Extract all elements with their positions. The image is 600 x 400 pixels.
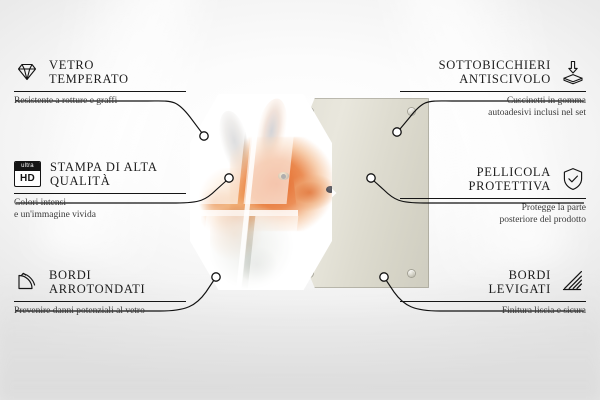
press-pad-icon bbox=[560, 59, 586, 85]
feature-subtitle: Colori intensi e un'immagine vivida bbox=[14, 198, 186, 221]
feature-subtitle: Cuscinetti in gomma autoadesivi inclusi … bbox=[400, 96, 586, 119]
divider bbox=[400, 198, 586, 199]
feature-title: PELLICOLA PROTETTIVA bbox=[469, 165, 551, 193]
divider bbox=[14, 193, 186, 194]
feature-subtitle: Resistente a rotture e graffi bbox=[14, 96, 186, 108]
feature-subtitle: Protegge la parte posteriore del prodott… bbox=[400, 203, 586, 226]
feature-stampa-di-alta-qualita: ultra HD STAMPA DI ALTA QUALITÀ Colori i… bbox=[14, 160, 186, 221]
infographic-canvas: VETRO TEMPERATO Resistente a rotture e g… bbox=[0, 0, 600, 400]
product-stack bbox=[178, 86, 438, 301]
ultra-hd-bottom-label: HD bbox=[15, 171, 40, 187]
divider bbox=[14, 301, 186, 302]
feature-bordi-arrotondati: BORDI ARROTONDATI Prevenire danni potenz… bbox=[14, 268, 186, 318]
watercolor-splatter bbox=[233, 243, 281, 286]
fox-artwork bbox=[190, 94, 332, 290]
feature-title: BORDI ARROTONDATI bbox=[49, 268, 145, 296]
diamond-icon bbox=[14, 59, 40, 85]
divider bbox=[400, 301, 586, 302]
feature-title: BORDI LEVIGATI bbox=[488, 268, 551, 296]
polished-edge-icon bbox=[560, 269, 586, 295]
feature-vetro-temperato: VETRO TEMPERATO Resistente a rotture e g… bbox=[14, 58, 186, 108]
feature-bordi-levigati: BORDI LEVIGATI Finitura liscia e sicura bbox=[400, 268, 586, 318]
shield-check-icon bbox=[560, 166, 586, 192]
rounded-corner-icon bbox=[14, 269, 40, 295]
fox-snout bbox=[293, 170, 332, 214]
feature-title: STAMPA DI ALTA QUALITÀ bbox=[50, 160, 158, 188]
feature-title: SOTTOBICCHIERI ANTISCIVOLO bbox=[439, 58, 551, 86]
feature-pellicola-protettiva: PELLICOLA PROTETTIVA Protegge la parte p… bbox=[400, 165, 586, 226]
ultra-hd-top-label: ultra bbox=[15, 162, 40, 171]
feature-sottobicchieri-antiscivolo: SOTTOBICCHIERI ANTISCIVOLO Cuscinetti in… bbox=[400, 58, 586, 119]
feature-subtitle: Finitura liscia e sicura bbox=[400, 306, 586, 318]
feature-title: VETRO TEMPERATO bbox=[49, 58, 129, 86]
ultra-hd-badge-icon: ultra HD bbox=[14, 161, 41, 187]
divider bbox=[14, 91, 186, 92]
fox-nose bbox=[326, 186, 332, 193]
feature-subtitle: Prevenire danni potenziali al vetro bbox=[14, 306, 186, 318]
product-board-front bbox=[190, 94, 332, 290]
divider bbox=[400, 91, 586, 92]
